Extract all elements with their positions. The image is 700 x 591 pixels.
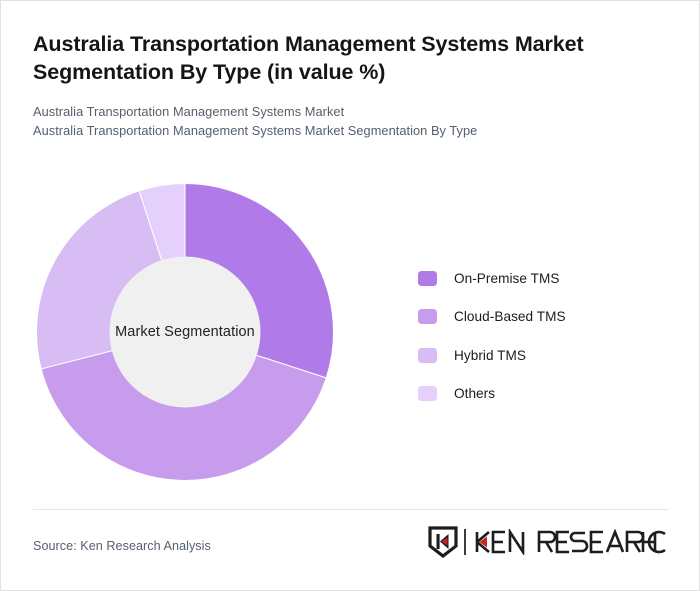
logo-separator <box>464 529 466 555</box>
donut-chart: Market Segmentation <box>34 181 336 483</box>
legend-swatch-icon <box>418 386 437 401</box>
legend-item-label: Cloud-Based TMS <box>454 309 566 324</box>
source-note: Source: Ken Research Analysis <box>33 539 211 553</box>
legend-item[interactable]: On-Premise TMS <box>418 259 566 298</box>
chart-legend: On-Premise TMSCloud-Based TMSHybrid TMSO… <box>418 259 566 413</box>
legend-item-label: On-Premise TMS <box>454 271 559 286</box>
chart-subtitle-secondary: Australia Transportation Management Syst… <box>33 121 633 140</box>
ken-research-shield-icon <box>428 526 458 558</box>
ken-research-wordmark <box>473 529 669 555</box>
ken-research-logo <box>428 524 669 560</box>
legend-item[interactable]: Cloud-Based TMS <box>418 298 566 337</box>
legend-item-label: Others <box>454 386 495 401</box>
chart-subtitle-primary: Australia Transportation Management Syst… <box>33 102 633 121</box>
legend-swatch-icon <box>418 348 437 363</box>
chart-card: Australia Transportation Management Syst… <box>0 0 700 591</box>
legend-item[interactable]: Hybrid TMS <box>418 336 566 375</box>
legend-item-label: Hybrid TMS <box>454 348 526 363</box>
donut-chart-svg <box>34 181 336 483</box>
footer-divider <box>33 509 669 510</box>
page-title: Australia Transportation Management Syst… <box>33 31 633 86</box>
donut-hole <box>110 257 261 408</box>
legend-item[interactable]: Others <box>418 375 566 414</box>
chart-header: Australia Transportation Management Syst… <box>33 31 633 141</box>
legend-swatch-icon <box>418 309 437 324</box>
chart-subtitles: Australia Transportation Management Syst… <box>33 102 633 141</box>
legend-swatch-icon <box>418 271 437 286</box>
